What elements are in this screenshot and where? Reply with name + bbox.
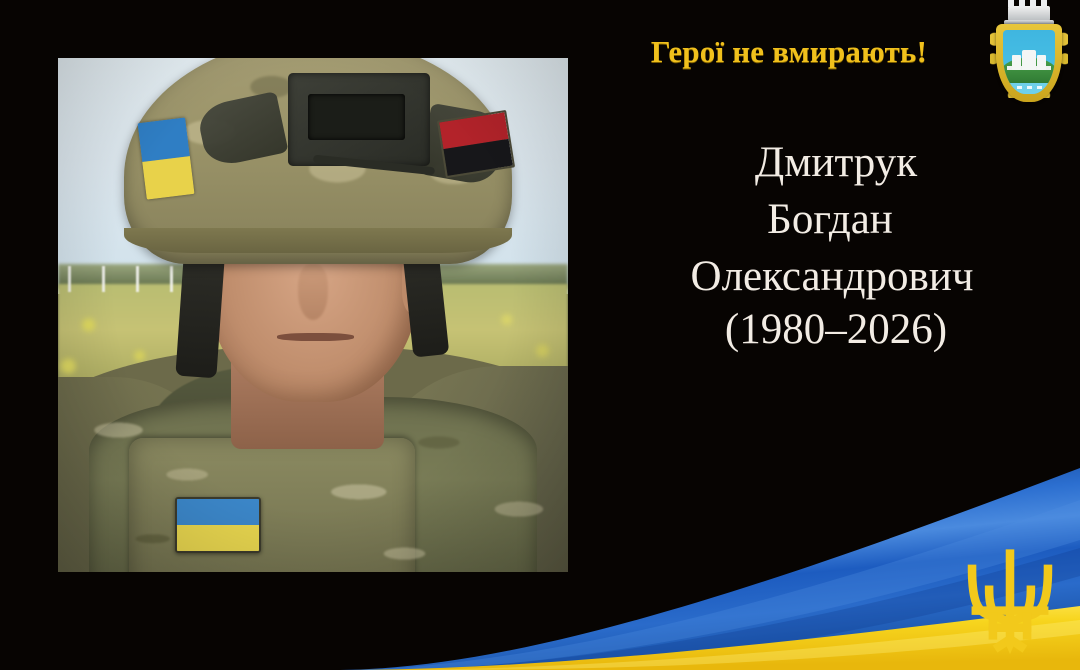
fortress-tower-center (1022, 50, 1036, 70)
ukraine-flag-patch-chest (175, 497, 261, 552)
years-text: (1980–2026) (725, 306, 947, 353)
soldier-photo (58, 58, 568, 572)
fortress-tower-right (1037, 55, 1046, 70)
coat-of-arms-icon (988, 6, 1070, 104)
surname-text: Дмитрук (755, 139, 917, 186)
trident-point (1004, 641, 1015, 654)
soldier-mouth (277, 333, 354, 341)
red-black-upa-patch-helmet (436, 109, 514, 177)
memorial-slogan: Герої не вмирають! (600, 34, 978, 70)
ukraine-flag-patch-helmet (138, 117, 195, 199)
name-block: Дмитрук Богдан Олександрович (1980–2026) (600, 128, 1060, 358)
water-base-charge (1003, 83, 1055, 94)
soldier-nose (298, 264, 329, 321)
patronymic-text: Олександрович (691, 253, 974, 300)
shield-field (1003, 30, 1055, 94)
mural-crown-icon (1008, 6, 1050, 21)
memorial-poster: Герої не вмирають! Дмитрук Богдан Олекса… (0, 0, 1080, 670)
given-name-text: Богдан (767, 196, 893, 243)
fortress-tower-left (1012, 55, 1021, 70)
ukraine-trident-icon (962, 548, 1058, 660)
body-armor-front-panel (129, 438, 415, 572)
nvg-mount-slot (308, 94, 405, 140)
helmet-rim (124, 228, 512, 254)
